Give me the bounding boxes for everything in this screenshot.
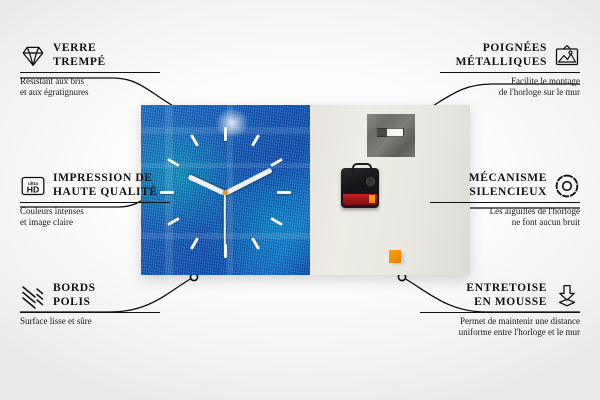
feature-subtitle-line2: uniforme entre l'horloge et le mur [420, 327, 580, 338]
feature-impression-haute-qualite: ultra HD IMPRESSION DE HAUTE QUALITÉ Cou… [20, 172, 170, 228]
feature-title-line2: EN MOUSSE [466, 296, 547, 310]
hour-marker [251, 134, 260, 147]
ultra-hd-icon: ultra HD [20, 173, 46, 199]
feature-subtitle-line1: Surface lisse et sûre [20, 316, 160, 327]
feature-title-line2: MÉTALLIQUES [456, 56, 547, 70]
feature-title-line1: ENTRETOISE [466, 282, 547, 296]
polished-edges-icon [20, 283, 46, 309]
down-arrow-layer-icon [554, 283, 580, 309]
divider [20, 312, 160, 313]
feature-subtitle-line1: Les aiguilles de l'horloge [430, 206, 580, 217]
mechanism-dial [366, 177, 375, 186]
divider [440, 72, 580, 73]
second-hand [224, 192, 226, 248]
feature-subtitle-line2: et image claire [20, 217, 170, 228]
hour-marker [277, 191, 291, 194]
hour-marker [190, 134, 199, 147]
feature-verre-trempe: VERRE TREMPÉ Résistant aux bris et aux é… [20, 42, 160, 98]
feature-entretoise-en-mousse: ENTRETOISE EN MOUSSE Permet de maintenir… [420, 282, 580, 338]
feature-subtitle-line1: Facilite le montage [440, 76, 580, 87]
metal-hanger-plate [367, 114, 415, 157]
feature-title-line1: MÉCANISME [469, 172, 547, 186]
feature-title-line1: VERRE [53, 42, 106, 56]
hour-marker [224, 127, 227, 141]
diamond-icon [20, 43, 46, 69]
hour-hand [188, 174, 226, 195]
mechanism-hook [352, 163, 372, 174]
hour-marker [270, 217, 283, 226]
divider [20, 72, 160, 73]
feature-subtitle-line1: Permet de maintenir une distance [420, 316, 580, 327]
feature-title-line1: IMPRESSION DE [53, 172, 158, 186]
foam-spacer [389, 250, 401, 263]
feature-subtitle-line1: Résistant aux bris [20, 76, 160, 87]
feature-title-line2: TREMPÉ [53, 56, 106, 70]
divider [20, 202, 170, 203]
divider [420, 312, 580, 313]
product-image [141, 105, 470, 275]
divider [430, 202, 580, 203]
feature-subtitle-line2: de l'horloge sur le mur [440, 87, 580, 98]
highlight-glare [215, 108, 249, 138]
gear-icon [554, 173, 580, 199]
hour-marker [190, 237, 199, 250]
feature-title-line2: HAUTE QUALITÉ [53, 186, 158, 200]
feature-title-line2: POLIS [53, 296, 96, 310]
wall-hanger-icon [554, 43, 580, 69]
feature-subtitle-line2: ne font aucun bruit [430, 217, 580, 228]
feature-title-line1: BORDS [53, 282, 96, 296]
feature-subtitle-line1: Couleurs intenses [20, 206, 170, 217]
feature-title-line1: POIGNÉES [456, 42, 547, 56]
battery [343, 194, 377, 205]
clock-hub [223, 190, 228, 195]
feature-title-line2: SILENCIEUX [469, 186, 547, 200]
feature-mecanisme-silencieux: MÉCANISME SILENCIEUX Les aiguilles de l'… [430, 172, 580, 228]
hanger-slot [376, 128, 404, 137]
infographic-canvas: VERRE TREMPÉ Résistant aux bris et aux é… [0, 0, 600, 400]
feature-poignees-metalliques: POIGNÉES MÉTALLIQUES Facilite le montage… [440, 42, 580, 98]
clock-mechanism [341, 168, 379, 208]
feature-subtitle-line2: et aux égratignures [20, 87, 160, 98]
svg-text:HD: HD [27, 184, 39, 194]
hour-marker [251, 237, 260, 250]
feature-bords-polis: BORDS POLIS Surface lisse et sûre [20, 282, 160, 327]
